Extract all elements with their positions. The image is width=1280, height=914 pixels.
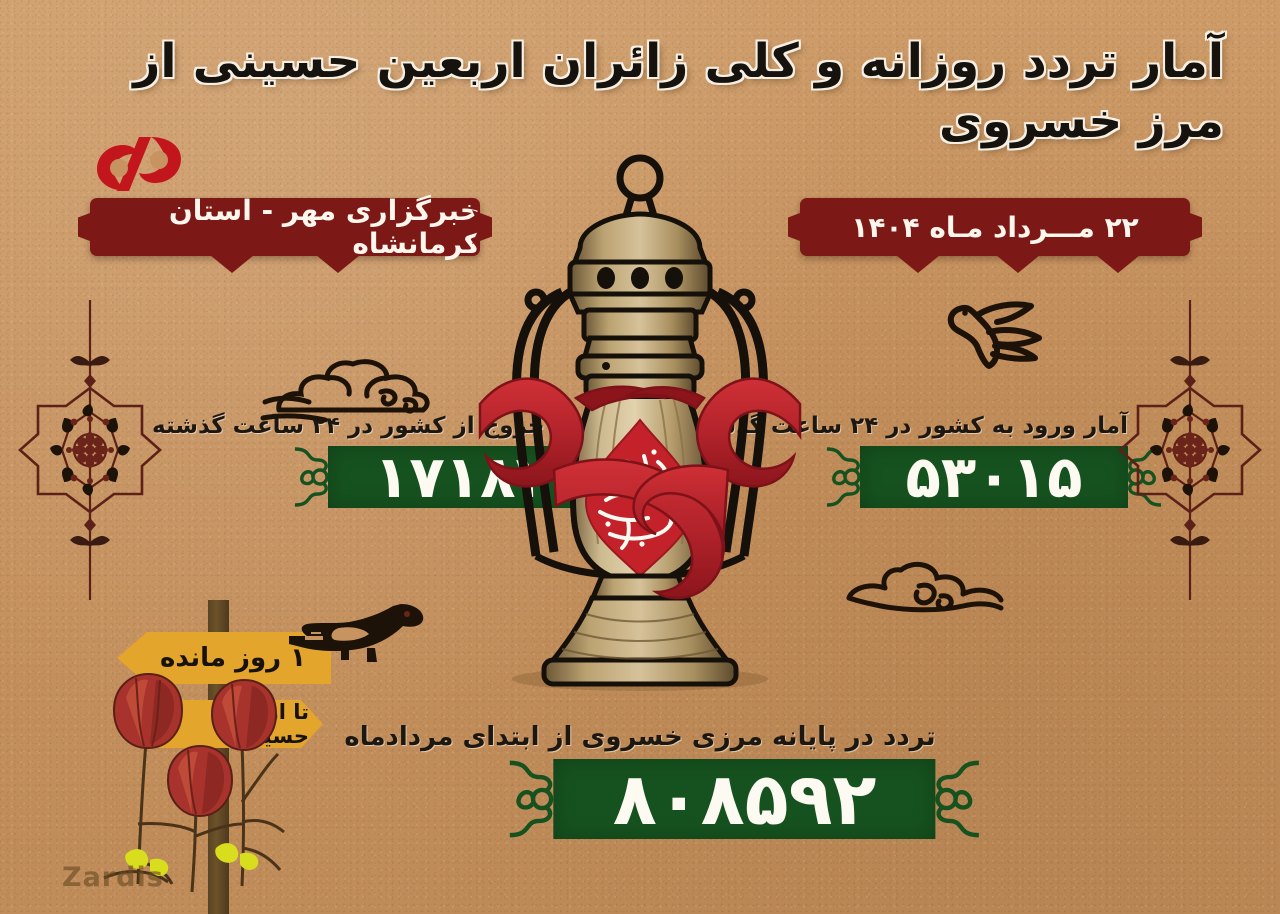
infographic-poster: آمار تردد روزانه و کلی زائران اربعین حسی…	[0, 0, 1280, 914]
countdown-days-sign: ۱ روز مانده	[117, 632, 331, 684]
countdown-days-label: ۱ روز مانده	[160, 643, 306, 673]
stat-total-label: تردد در پایانه مرزی خسروی از ابتدای مردا…	[344, 722, 935, 752]
oil-lantern-illustration	[466, 152, 814, 708]
watermark: Zardis	[62, 862, 164, 893]
scroll-ornament	[508, 759, 562, 839]
cloud-swirl-motif	[845, 552, 1005, 626]
stat-total-box: ۸۰۸۵۹۲	[554, 759, 936, 839]
countdown-event-sign: تا اربعین حسینی	[139, 700, 323, 748]
countdown-event-label: تا اربعین حسینی	[139, 700, 309, 748]
ribbon-tail	[1096, 255, 1140, 273]
flying-dove-silhouette	[943, 288, 1055, 370]
scroll-ornament	[1122, 446, 1162, 508]
scroll-ornament	[826, 446, 866, 508]
scroll-ornament	[294, 446, 334, 508]
ribbon-tail	[896, 255, 940, 273]
ribbon-tail	[996, 255, 1040, 273]
stat-entry-box: ۵۳۰۱۵	[860, 446, 1128, 508]
mehr-news-logo	[93, 133, 185, 195]
page-title: آمار تردد روزانه و کلی زائران اربعین حسی…	[56, 32, 1224, 152]
stat-total: تردد در پایانه مرزی خسروی از ابتدای مردا…	[344, 722, 935, 839]
date-banner-label: ۲۲ مـــرداد مـاه ۱۴۰۴	[851, 211, 1139, 244]
stat-total-value: ۸۰۸۵۹۲	[613, 757, 877, 841]
islamic-star-ornament	[14, 300, 166, 600]
scroll-ornament	[928, 759, 982, 839]
agency-banner-label: خبرگزاری مهر - استان کرمانشاه	[90, 194, 480, 260]
ribbon-tail	[316, 255, 360, 273]
date-banner: ۲۲ مـــرداد مـاه ۱۴۰۴	[800, 198, 1190, 256]
ribbon-tail	[210, 255, 254, 273]
agency-banner: خبرگزاری مهر - استان کرمانشاه	[90, 198, 480, 256]
stat-entry-value: ۵۳۰۱۵	[906, 443, 1083, 511]
